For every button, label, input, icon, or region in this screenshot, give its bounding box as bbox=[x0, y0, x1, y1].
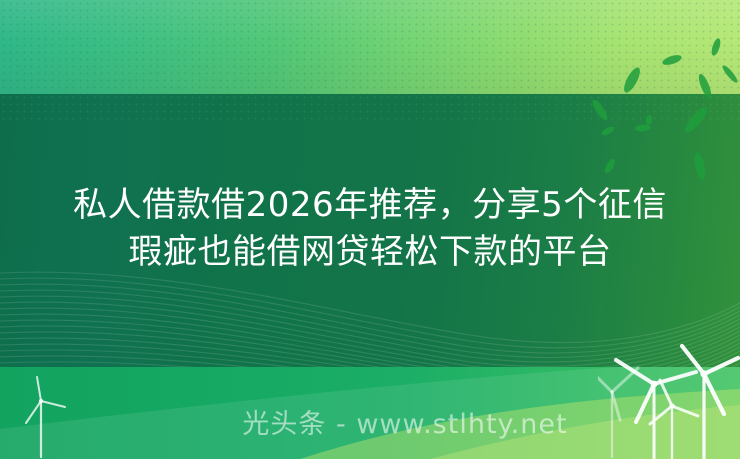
page-title: 私人借款借2026年推荐，分享5个征信 瑕疵也能借网贷轻松下款的平台 bbox=[0, 182, 740, 276]
halftone-dot-texture bbox=[0, 0, 740, 95]
mid-band-dot-texture bbox=[0, 94, 740, 120]
poster-canvas: 光头条 - www.stlhty.net 私人借款借2026年推荐，分享5个征信… bbox=[0, 0, 740, 459]
watermark-text: 光头条 - www.stlhty.net bbox=[0, 402, 740, 441]
